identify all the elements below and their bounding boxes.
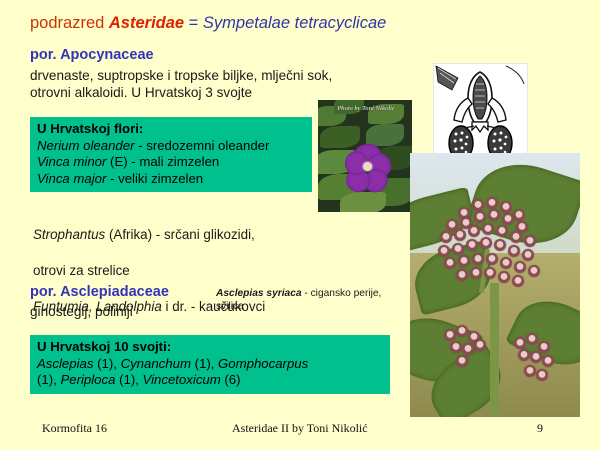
flower-floret: [474, 211, 486, 223]
count-asclepias: (1),: [93, 356, 120, 371]
flower-floret: [536, 369, 548, 381]
flower-floret: [486, 197, 498, 209]
caption-species-name: Asclepias syriaca: [216, 288, 302, 299]
flower-floret: [472, 199, 484, 211]
flower-floret: [538, 341, 550, 353]
genus-gomphocarpus: Gomphocarpus: [218, 356, 308, 371]
flower-floret: [450, 341, 462, 353]
flower-floret: [512, 275, 524, 287]
flower-floret: [454, 229, 466, 241]
asclepiadaceae-description: ginostegij, poliniji: [30, 303, 133, 320]
title-equals-sign: =: [184, 14, 203, 32]
flower-floret: [482, 223, 494, 235]
flower-floret: [498, 271, 510, 283]
strophantus-line2: otrovi za strelice: [33, 263, 130, 278]
flower-floret: [508, 245, 520, 257]
footer-course-label: Kormofita 16: [42, 421, 107, 436]
croatia-flora-box: U Hrvatskoj flori: Nerium oleander - sre…: [30, 117, 312, 192]
count-gomphocarpus: (1),: [37, 372, 60, 387]
species-name-vinca-major: Vinca major: [37, 171, 106, 186]
flower-floret: [456, 355, 468, 367]
flower-floret: [510, 231, 522, 243]
footer-page-number: 9: [537, 421, 543, 436]
presentation-slide: podrazred Asteridae = Sympetalae tetracy…: [0, 0, 600, 450]
flower-floret: [444, 257, 456, 269]
genus-strophantus: Strophantus: [33, 227, 105, 242]
flower-floret: [513, 209, 525, 221]
flower-floret: [500, 201, 512, 213]
leaf-shape: [320, 126, 360, 148]
flower-floret: [526, 333, 538, 345]
asclepias-syriaca-photo: [410, 153, 580, 417]
flower-floret: [514, 337, 526, 349]
vinca-flower-photo: Photo by Toni Nikolić: [318, 100, 412, 212]
family-heading-apocynaceae: por. Apocynaceae: [30, 47, 154, 63]
photo-watermark: Photo by Toni Nikolić: [326, 105, 406, 112]
flower-floret: [528, 265, 540, 277]
strophantus-line1-rest: (Afrika) - srčani glikozidi,: [105, 227, 255, 242]
flower-floret: [440, 231, 452, 243]
species-name-nerium-oleander: Nerium oleander: [37, 138, 135, 153]
flower-floret: [470, 267, 482, 279]
flower-floret: [514, 261, 526, 273]
family-heading-asclepiadaceae: por. Asclepiadaceae: [30, 284, 169, 300]
genus-vincetoxicum: Vincetoxicum: [143, 372, 221, 387]
croatia-flora-species-row: Vinca major - veliki zimzelen: [37, 171, 305, 188]
flower-floret: [542, 355, 554, 367]
species-common-vinca-major: - veliki zimzelen: [106, 171, 203, 186]
croatia-taxa-box-title: U Hrvatskoj 10 svojti:: [37, 339, 383, 356]
flower-floret: [468, 225, 480, 237]
count-vincetoxicum: (6): [221, 372, 241, 387]
croatia-taxa-row: (1), Periploca (1), Vincetoxicum (6): [37, 372, 383, 389]
flower-floret: [472, 253, 484, 265]
plant-stem: [490, 283, 499, 417]
flower-floret: [456, 269, 468, 281]
flower-floret: [458, 255, 470, 267]
species-name-vinca-minor: Vinca minor: [37, 154, 106, 169]
slide-title: podrazred Asteridae = Sympetalae tetracy…: [30, 14, 386, 33]
flower-center: [363, 162, 372, 171]
title-synonym-name: Sympetalae tetracyclicae: [203, 14, 386, 32]
flower-floret: [500, 257, 512, 269]
flower-floret: [438, 245, 450, 257]
apocynaceae-description: drvenaste, suptropske i tropske biljke, …: [30, 67, 332, 101]
count-periploca: (1),: [115, 372, 142, 387]
flower-floret: [522, 249, 534, 261]
flower-floret: [518, 349, 530, 361]
species-common-nerium-oleander: - sredozemni oleander: [135, 138, 270, 153]
flower-floret: [466, 239, 478, 251]
flower-floret: [480, 237, 492, 249]
flower-floret: [484, 267, 496, 279]
title-taxon-name: Asteridae: [109, 14, 184, 32]
flower-floret: [456, 325, 468, 337]
genus-periploca: Periploca: [60, 372, 115, 387]
genus-cynanchum: Cynanchum: [121, 356, 191, 371]
flower-floret: [524, 365, 536, 377]
asclepias-syriaca-caption: Asclepias syriaca - cigansko perije, svi…: [216, 288, 386, 313]
flower-floret: [496, 225, 508, 237]
gynostegium-line-drawing: [433, 63, 528, 156]
flower-floret: [502, 213, 514, 225]
croatia-taxa-row: Asclepias (1), Cynanchum (1), Gomphocarp…: [37, 356, 383, 373]
flower-floret: [524, 235, 536, 247]
croatia-flora-box-title: U Hrvatskoj flori:: [37, 121, 305, 138]
flower-floret: [444, 329, 456, 341]
leaf-shape: [340, 192, 386, 212]
croatia-taxa-box: U Hrvatskoj 10 svojti: Asclepias (1), Cy…: [30, 335, 390, 394]
footer-title-label: Asteridae II by Toni Nikolić: [232, 421, 368, 436]
flower-floret: [486, 253, 498, 265]
genus-asclepias: Asclepias: [37, 356, 93, 371]
flower-floret: [488, 209, 500, 221]
title-rank-word: podrazred: [30, 14, 109, 32]
species-common-vinca-minor: (E) - mali zimzelen: [106, 154, 219, 169]
flower-floret: [462, 343, 474, 355]
croatia-flora-species-row: Nerium oleander - sredozemni oleander: [37, 138, 305, 155]
flower-floret: [530, 351, 542, 363]
leaf-shape: [366, 124, 404, 146]
flower-floret: [452, 243, 464, 255]
flower-floret: [474, 339, 486, 351]
flower-floret: [494, 239, 506, 251]
count-cynanchum: (1),: [191, 356, 218, 371]
gynostegium-svg: [434, 64, 527, 155]
croatia-flora-species-row: Vinca minor (E) - mali zimzelen: [37, 154, 305, 171]
